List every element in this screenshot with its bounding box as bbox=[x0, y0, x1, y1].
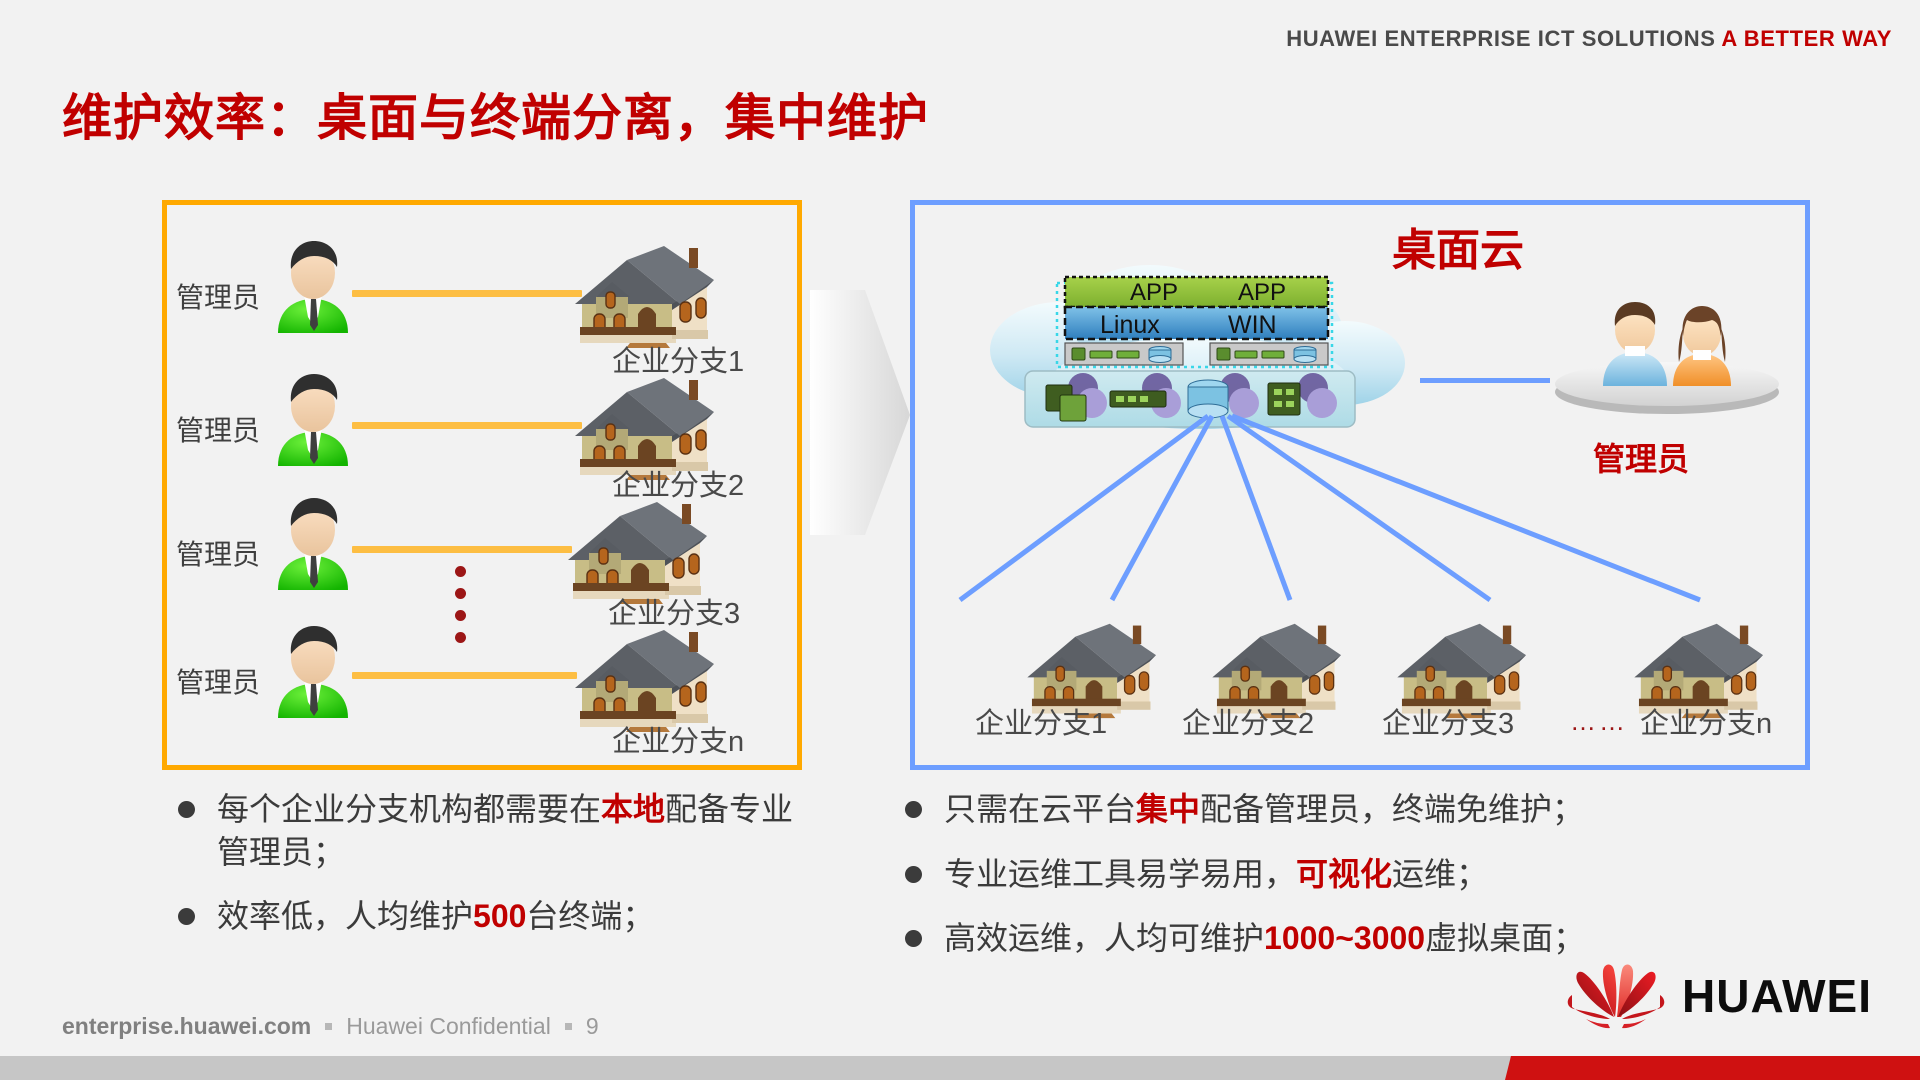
horizontal-ellipsis-icon: …… bbox=[1570, 706, 1628, 737]
huawei-wordmark: HUAWEI bbox=[1682, 969, 1872, 1023]
bullet-highlight: 500 bbox=[473, 898, 526, 934]
bullet-plain: 运维； bbox=[1392, 856, 1488, 892]
bullet-plain: 台终端； bbox=[526, 898, 654, 934]
bullet-plain: 虚拟桌面； bbox=[1425, 920, 1585, 956]
bullet-plain: 高效运维，人均可维护 bbox=[944, 920, 1264, 956]
cloud-branch-label-1: 企业分支1 bbox=[975, 700, 1107, 742]
header-brandline: HUAWEI ENTERPRISE ICT SOLUTIONS A BETTER… bbox=[1286, 26, 1892, 52]
left-admin-label-3: 管理员 bbox=[176, 533, 260, 573]
branch-label-4: 企业分支n bbox=[612, 718, 744, 760]
huawei-logo: HUAWEI bbox=[1564, 957, 1872, 1035]
right-bullet-item: 高效运维，人均可维护1000~3000虚拟桌面； bbox=[905, 917, 1805, 960]
left-admin-label-4: 管理员 bbox=[176, 661, 260, 701]
connector-line-4 bbox=[352, 672, 577, 679]
bullet-highlight: 本地 bbox=[601, 791, 665, 827]
cloud-branch-label-2: 企业分支2 bbox=[1182, 700, 1314, 742]
huawei-flower-icon bbox=[1564, 957, 1668, 1035]
header-brand-red: A BETTER WAY bbox=[1721, 26, 1892, 51]
footer-bar bbox=[0, 1056, 1920, 1080]
left-admin-label-1: 管理员 bbox=[176, 276, 260, 316]
cloud-branch-label-4: 企业分支n bbox=[1640, 700, 1772, 742]
left-bullet-list: 每个企业分支机构都需要在本地配备专业管理员；效率低，人均维护500台终端； bbox=[178, 788, 818, 960]
slide-root: HUAWEI ENTERPRISE ICT SOLUTIONS A BETTER… bbox=[0, 0, 1920, 1080]
bullet-dot-icon bbox=[905, 801, 922, 818]
footer-page-number: 9 bbox=[586, 1013, 599, 1040]
branch-label-3: 企业分支3 bbox=[608, 590, 740, 632]
admin-person-icon-1 bbox=[270, 237, 356, 333]
admin-person-icon-3 bbox=[270, 494, 356, 590]
admin-person-icon-4 bbox=[270, 622, 356, 718]
footer-separator-1 bbox=[325, 1023, 332, 1030]
bullet-plain: 专业运维工具易学易用， bbox=[944, 856, 1296, 892]
bullet-dot-icon bbox=[178, 908, 195, 925]
left-bullet-item: 效率低，人均维护500台终端； bbox=[178, 895, 818, 938]
branch-house-icon-1 bbox=[572, 242, 722, 350]
footer-confidential: Huawei Confidential bbox=[346, 1013, 551, 1040]
left-bullet-text: 每个企业分支机构都需要在本地配备专业管理员； bbox=[217, 788, 818, 873]
os-label-right: WIN bbox=[1228, 311, 1277, 339]
right-bullet-text: 高效运维，人均可维护1000~3000虚拟桌面； bbox=[944, 917, 1585, 960]
footer-bar-red bbox=[1505, 1056, 1920, 1080]
connector-line-1 bbox=[352, 290, 582, 297]
app-label-left: APP bbox=[1130, 279, 1178, 306]
left-bullet-text: 效率低，人均维护500台终端； bbox=[217, 895, 654, 938]
os-label-left: Linux bbox=[1100, 311, 1160, 339]
transition-arrow-icon bbox=[810, 290, 915, 535]
header-brand-black: HUAWEI ENTERPRISE ICT SOLUTIONS bbox=[1286, 26, 1715, 51]
right-bullet-item: 只需在云平台集中配备管理员，终端免维护； bbox=[905, 788, 1805, 831]
bullet-highlight: 集中 bbox=[1136, 791, 1200, 827]
bullet-plain: 效率低，人均维护 bbox=[217, 898, 473, 934]
bullet-dot-icon bbox=[178, 801, 195, 818]
branch-label-1: 企业分支1 bbox=[612, 338, 744, 380]
branch-label-2: 企业分支2 bbox=[612, 462, 744, 504]
bullet-highlight: 1000~3000 bbox=[1264, 920, 1425, 956]
right-bullet-list: 只需在云平台集中配备管理员，终端免维护；专业运维工具易学易用，可视化运维；高效运… bbox=[905, 788, 1805, 982]
admin-pair-icon bbox=[1545, 300, 1790, 415]
footer-bar-gray bbox=[0, 1056, 1530, 1080]
right-bullet-text: 只需在云平台集中配备管理员，终端免维护； bbox=[944, 788, 1584, 831]
footer: enterprise.huawei.com Huawei Confidentia… bbox=[62, 1013, 599, 1040]
right-bullet-text: 专业运维工具易学易用，可视化运维； bbox=[944, 853, 1488, 896]
bullet-plain: 配备管理员，终端免维护； bbox=[1200, 791, 1584, 827]
connector-line-3 bbox=[352, 546, 572, 553]
footer-site: enterprise.huawei.com bbox=[62, 1013, 311, 1040]
footer-separator-2 bbox=[565, 1023, 572, 1030]
bullet-highlight: 可视化 bbox=[1296, 856, 1392, 892]
right-bullet-item: 专业运维工具易学易用，可视化运维； bbox=[905, 853, 1805, 896]
connector-line-2 bbox=[352, 422, 582, 429]
bullet-plain: 只需在云平台 bbox=[944, 791, 1136, 827]
app-label-right: APP bbox=[1238, 279, 1286, 306]
bullet-dot-icon bbox=[905, 930, 922, 947]
bullet-dot-icon bbox=[905, 866, 922, 883]
cloud-to-admin-line bbox=[1420, 378, 1550, 383]
bullet-plain: 每个企业分支机构都需要在 bbox=[217, 791, 601, 827]
left-bullet-item: 每个企业分支机构都需要在本地配备专业管理员； bbox=[178, 788, 818, 873]
admin-person-icon-2 bbox=[270, 370, 356, 466]
left-admin-label-2: 管理员 bbox=[176, 409, 260, 449]
page-title: 维护效率：桌面与终端分离，集中维护 bbox=[62, 78, 929, 150]
vertical-dots-icon bbox=[455, 555, 467, 654]
cloud-branch-label-3: 企业分支3 bbox=[1382, 700, 1514, 742]
